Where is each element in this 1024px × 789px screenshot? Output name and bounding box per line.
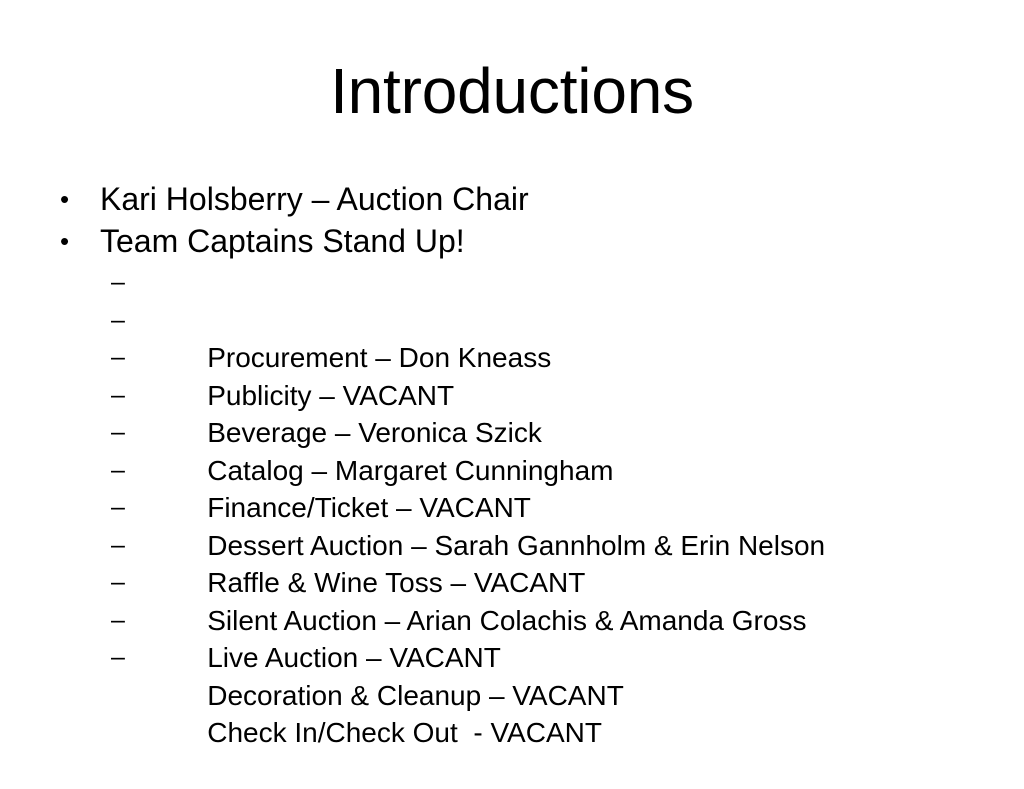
slide-body-content: • Kari Holsberry – Auction Chair • Team … [0,178,1024,677]
bullet-dash-icon: – [111,339,137,377]
bullet-dash-icon: – [111,302,137,340]
list-item[interactable]: – Decoration & Cleanup – VACANT [0,602,1024,640]
bullet-dash-icon: – [111,264,137,302]
bullet-dash-icon: – [111,414,137,452]
list-item[interactable]: – Dessert Auction – Sarah Gannholm & Eri… [0,452,1024,490]
bullet-dash-icon: – [111,377,137,415]
list-item[interactable]: – Silent Auction – Arian Colachis & Aman… [0,527,1024,565]
list-item[interactable]: – Procurement – Don Kneass [0,264,1024,302]
list-item[interactable]: – Catalog – Margaret Cunningham [0,377,1024,415]
list-item[interactable]: • Kari Holsberry – Auction Chair [0,178,1024,220]
list-item[interactable]: • Team Captains Stand Up! [0,220,1024,262]
list-item[interactable]: – Raffle & Wine Toss – VACANT [0,489,1024,527]
list-item[interactable]: – Beverage – Veronica Szick [0,339,1024,377]
bullet-dash-icon: – [111,639,137,677]
list-item-label: Check In/Check Out - VACANT [207,714,602,752]
sub-list: – Procurement – Don Kneass – Publicity –… [0,264,1024,677]
bullet-dash-icon: – [111,602,137,640]
bullet-dot-icon: • [60,178,84,220]
list-item[interactable]: – Live Auction – VACANT [0,564,1024,602]
list-item[interactable]: – Publicity – VACANT [0,302,1024,340]
list-item-label: Team Captains Stand Up! [100,220,465,262]
bullet-dash-icon: – [111,489,137,527]
list-item-label: Decoration & Cleanup – VACANT [207,677,624,715]
bullet-dot-icon: • [60,220,84,262]
bullet-dash-icon: – [111,452,137,490]
slide: Introductions • Kari Holsberry – Auction… [0,0,1024,768]
page-title: Introductions [0,58,1024,125]
list-item-label: Kari Holsberry – Auction Chair [100,178,529,220]
bullet-dash-icon: – [111,564,137,602]
list-item[interactable]: – Finance/Ticket – VACANT [0,414,1024,452]
list-item[interactable]: – Check In/Check Out - VACANT [0,639,1024,677]
bullet-dash-icon: – [111,527,137,565]
